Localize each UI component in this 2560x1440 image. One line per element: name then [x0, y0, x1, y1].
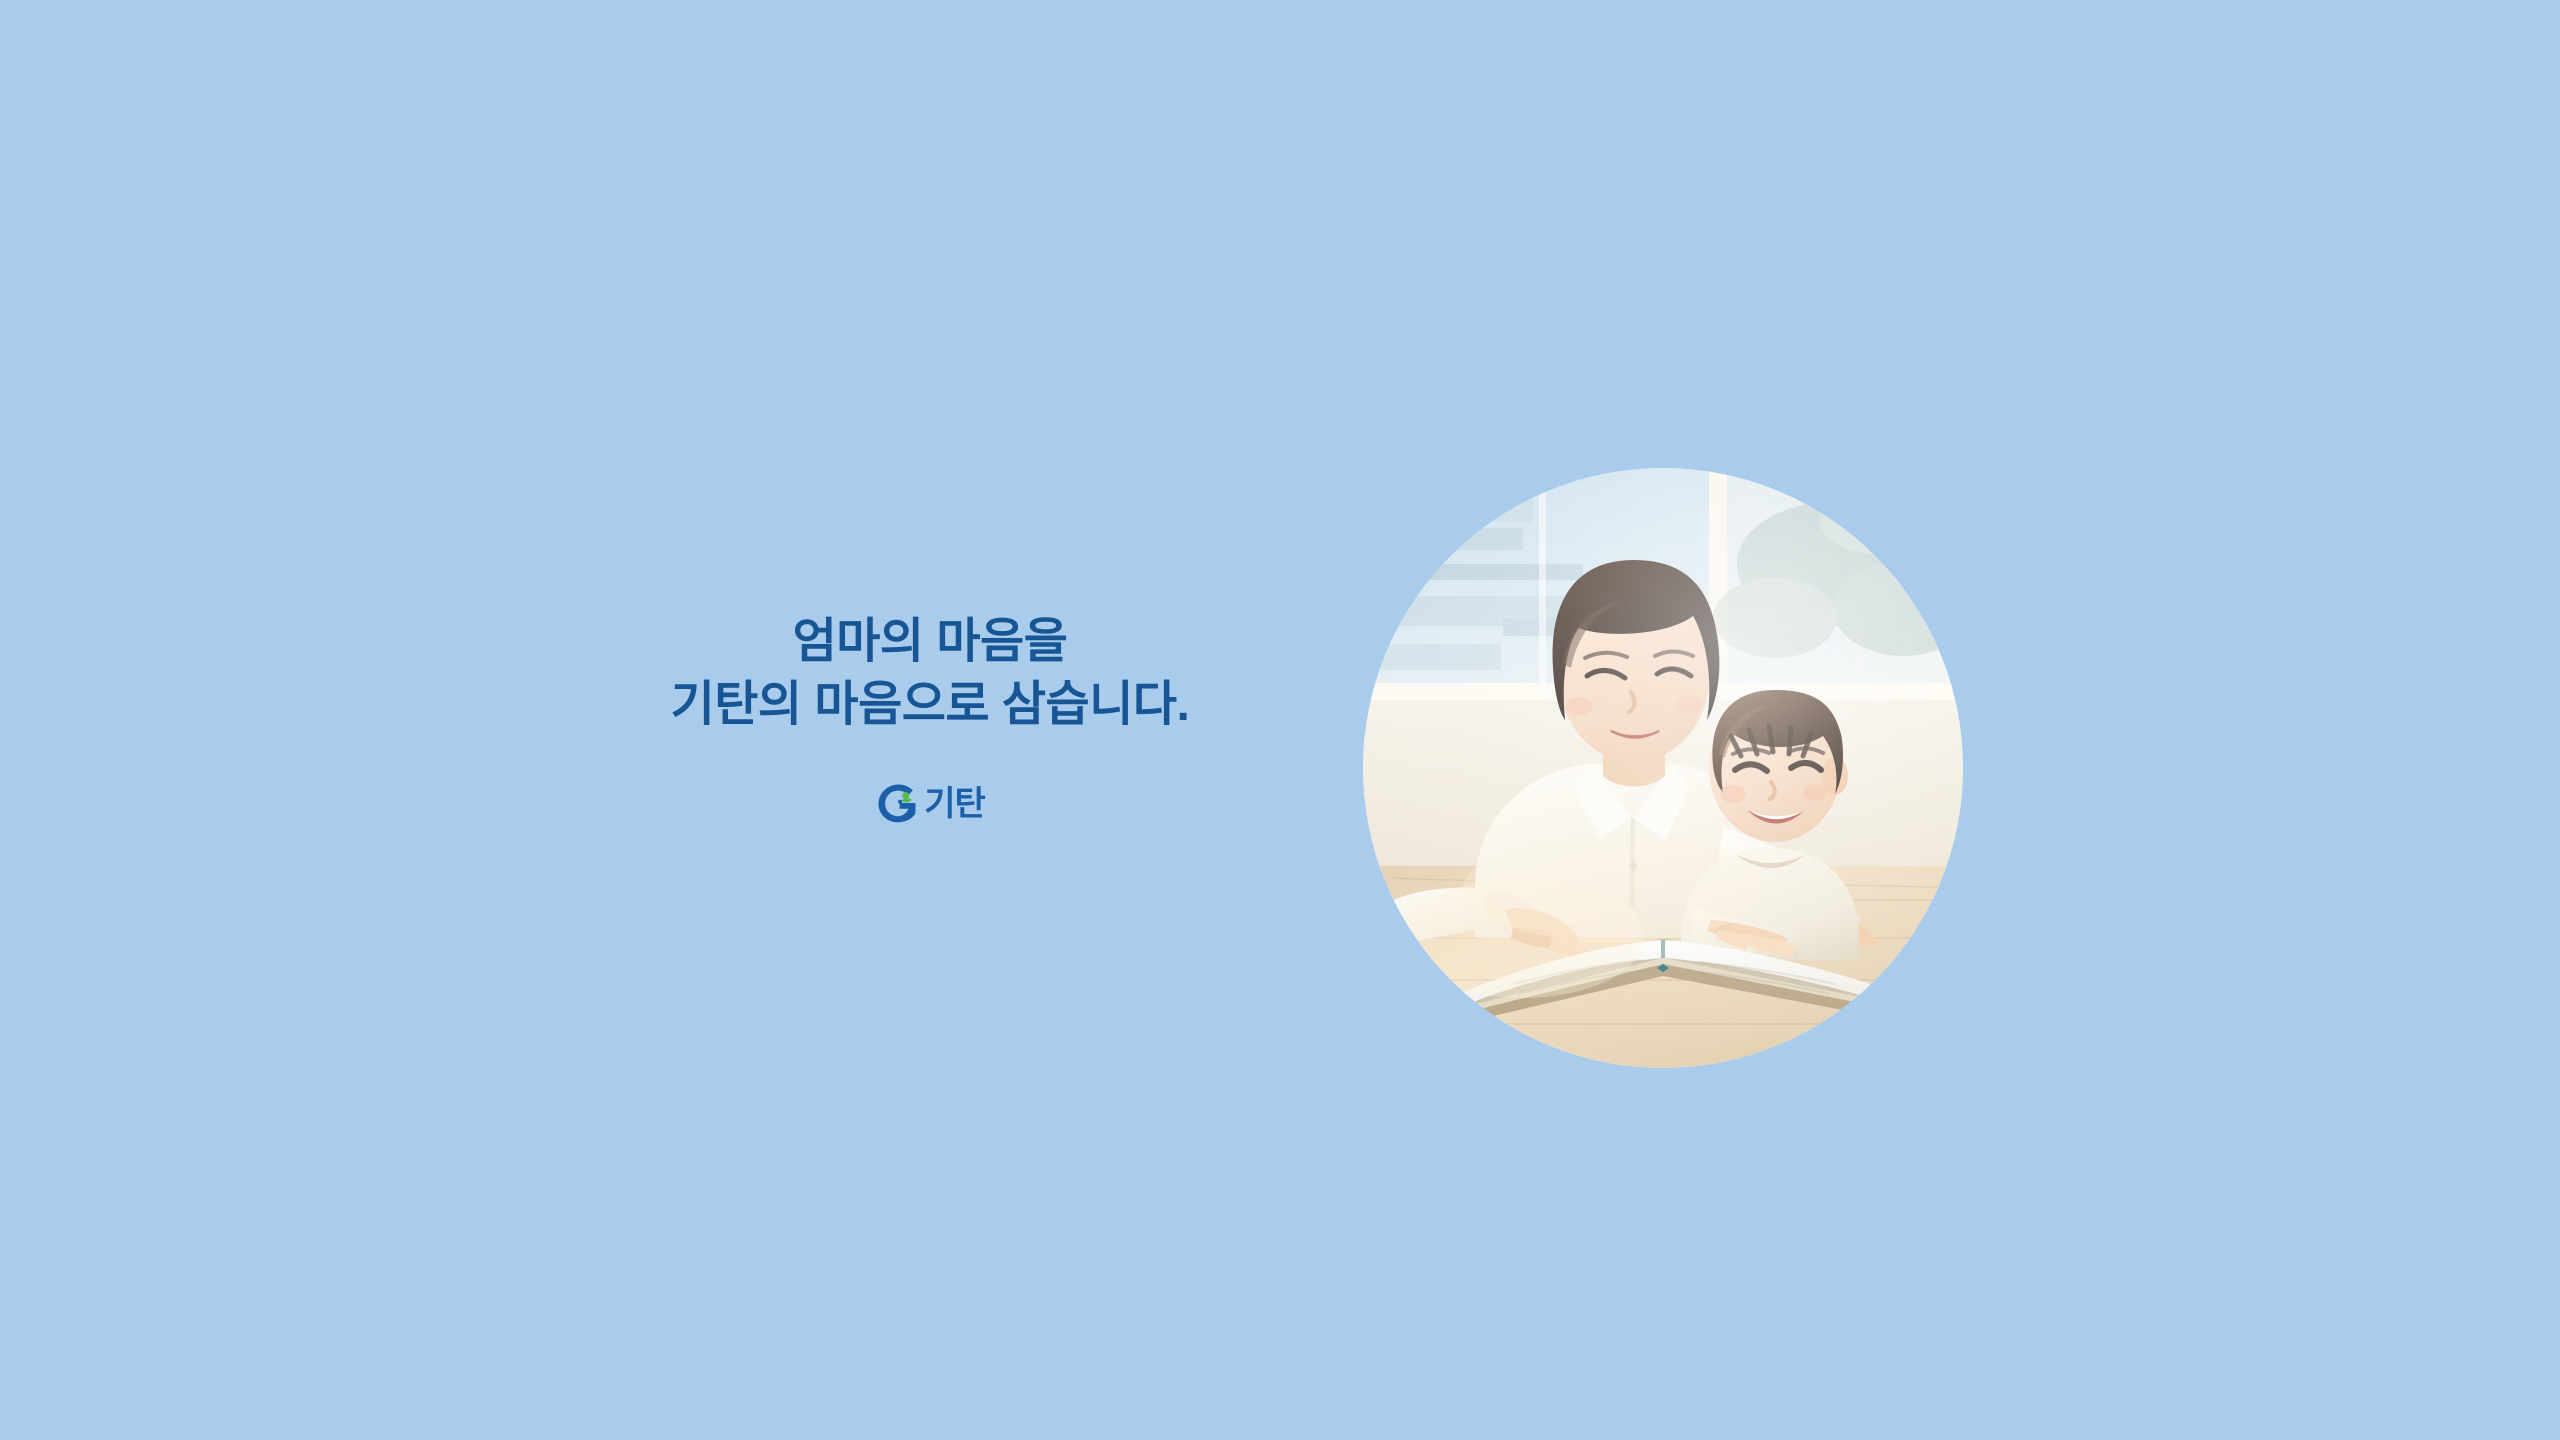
brand-logo[interactable]: 기탄 — [480, 781, 1380, 825]
gitan-g-mark-icon — [875, 781, 919, 825]
mother-and-child-reading-photo — [1363, 468, 1963, 1068]
headline-line-1: 엄마의 마음을 — [480, 610, 1380, 673]
headline: 엄마의 마음을 기탄의 마음으로 삼습니다. — [480, 610, 1380, 737]
brand-name: 기탄 — [924, 787, 985, 821]
headline-line-2: 기탄의 마음으로 삼습니다. — [480, 673, 1380, 736]
headline-block: 엄마의 마음을 기탄의 마음으로 삼습니다. 기탄 — [480, 610, 1380, 825]
promo-banner: 엄마의 마음을 기탄의 마음으로 삼습니다. 기탄 — [0, 0, 2560, 1440]
